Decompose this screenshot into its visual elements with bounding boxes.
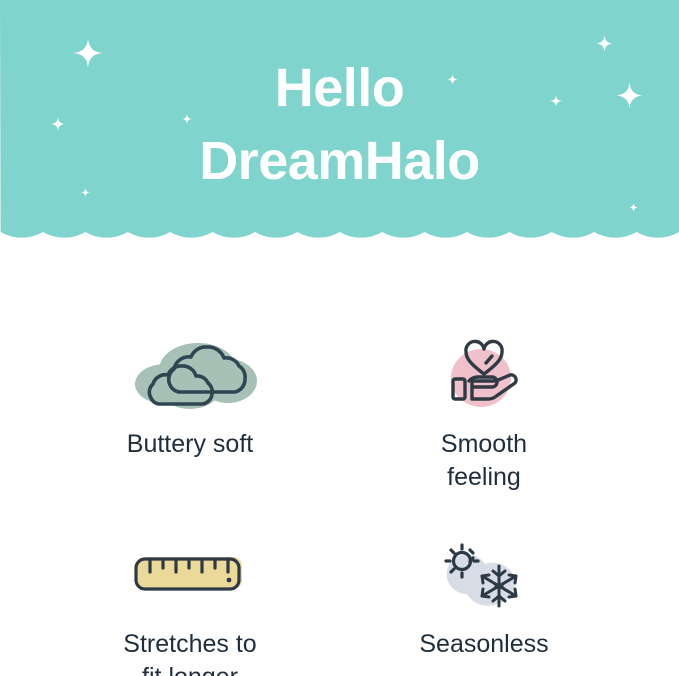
feature-icon-wrapper [334, 534, 634, 616]
feature-label-stretches: Stretches to fit longer [40, 628, 340, 676]
feature-icon-wrapper [334, 334, 634, 416]
feature-label-smooth-feeling: Smooth feeling [334, 428, 634, 494]
sun-snowflake-backdrop [447, 554, 515, 606]
page-title: Hello DreamHalo [0, 52, 679, 198]
feature-label-buttery-soft: Buttery soft [40, 428, 340, 461]
feature-grid: Buttery soft [0, 300, 679, 676]
feature-item-smooth-feeling: Smooth feeling [334, 334, 634, 494]
feature-item-stretches: Stretches to fit longer [40, 534, 340, 676]
ruler-icon [125, 546, 255, 604]
cloud-icon [115, 334, 265, 416]
feature-item-seasonless: Seasonless [334, 534, 634, 661]
hand-holding-heart-icon [434, 334, 534, 416]
feature-item-buttery-soft: Buttery soft [40, 334, 340, 461]
promo-card: Hello DreamHalo [0, 0, 679, 676]
sun-snowflake-icon [429, 536, 539, 614]
header-banner: Hello DreamHalo [0, 0, 679, 262]
feature-icon-wrapper [40, 534, 340, 616]
feature-label-seasonless: Seasonless [334, 628, 634, 661]
ruler-icon-dot [227, 578, 232, 583]
feature-icon-wrapper [40, 334, 340, 416]
